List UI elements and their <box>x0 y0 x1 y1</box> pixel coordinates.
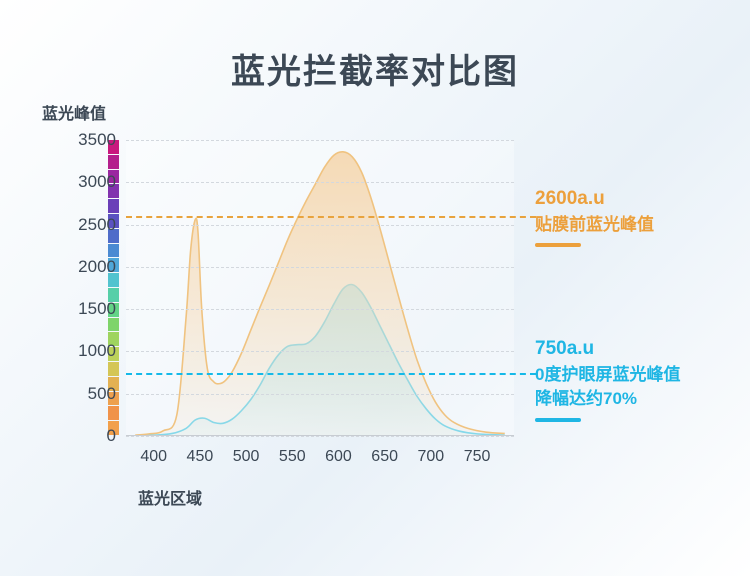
x-axis-tick-label: 700 <box>417 448 444 466</box>
x-axis-tick-label: 750 <box>464 448 491 466</box>
grid-line <box>126 182 514 183</box>
grid-line <box>126 140 514 141</box>
grid-line <box>126 267 514 268</box>
y-axis-tick-label: 3000 <box>78 172 116 192</box>
y-axis-tick-label: 1500 <box>78 299 116 319</box>
grid-line <box>126 394 514 395</box>
grid-line <box>126 309 514 310</box>
x-axis-tick-labels: 400450500550600650700750 <box>126 446 514 470</box>
threshold-line-before <box>126 216 536 218</box>
annotation-after-label-2: 降幅达约70% <box>535 389 637 408</box>
x-axis-title: 蓝光区域 <box>138 485 202 509</box>
x-axis-tick-label: 500 <box>233 448 260 466</box>
y-axis-tick-label: 500 <box>88 384 116 404</box>
annotation-after-underline <box>535 418 581 422</box>
annotation-before-underline <box>535 243 581 247</box>
x-axis-line <box>126 435 514 436</box>
grid-line <box>126 351 514 352</box>
x-axis-tick-label: 650 <box>371 448 398 466</box>
grid-line <box>126 225 514 226</box>
y-axis-tick-label: 1000 <box>78 341 116 361</box>
y-axis-tick-label: 2000 <box>78 257 116 277</box>
annotation-after: 750a.u 0度护眼屏蓝光峰值 降幅达约70% <box>535 335 680 422</box>
threshold-line-after <box>126 373 536 375</box>
x-axis-tick-label: 400 <box>140 448 167 466</box>
annotation-after-value: 750a.u <box>535 335 680 363</box>
y-axis-title: 蓝光峰值 <box>42 100 106 124</box>
annotation-before-value: 2600a.u <box>535 185 654 213</box>
y-axis-tick-label: 2500 <box>78 215 116 235</box>
y-axis-tick-label: 3500 <box>78 130 116 150</box>
x-axis-tick-label: 550 <box>279 448 306 466</box>
annotation-after-label-1: 0度护眼屏蓝光峰值 <box>535 365 680 384</box>
plot-area <box>126 140 514 436</box>
annotation-before-label: 贴膜前蓝光峰值 <box>535 215 654 234</box>
x-axis-tick-label: 450 <box>187 448 214 466</box>
plot-background <box>126 140 514 436</box>
x-axis-tick-label: 600 <box>325 448 352 466</box>
annotation-before: 2600a.u 贴膜前蓝光峰值 <box>535 185 654 247</box>
page-title: 蓝光拦截率对比图 <box>0 44 750 93</box>
y-axis-tick-labels: 0500100015002000250030003500 <box>38 140 116 436</box>
grid-line <box>126 436 514 437</box>
y-axis-tick-label: 0 <box>107 426 116 446</box>
chart-page: 蓝光拦截率对比图 蓝光峰值 蓝光区域 050010001500200025003… <box>0 0 750 576</box>
